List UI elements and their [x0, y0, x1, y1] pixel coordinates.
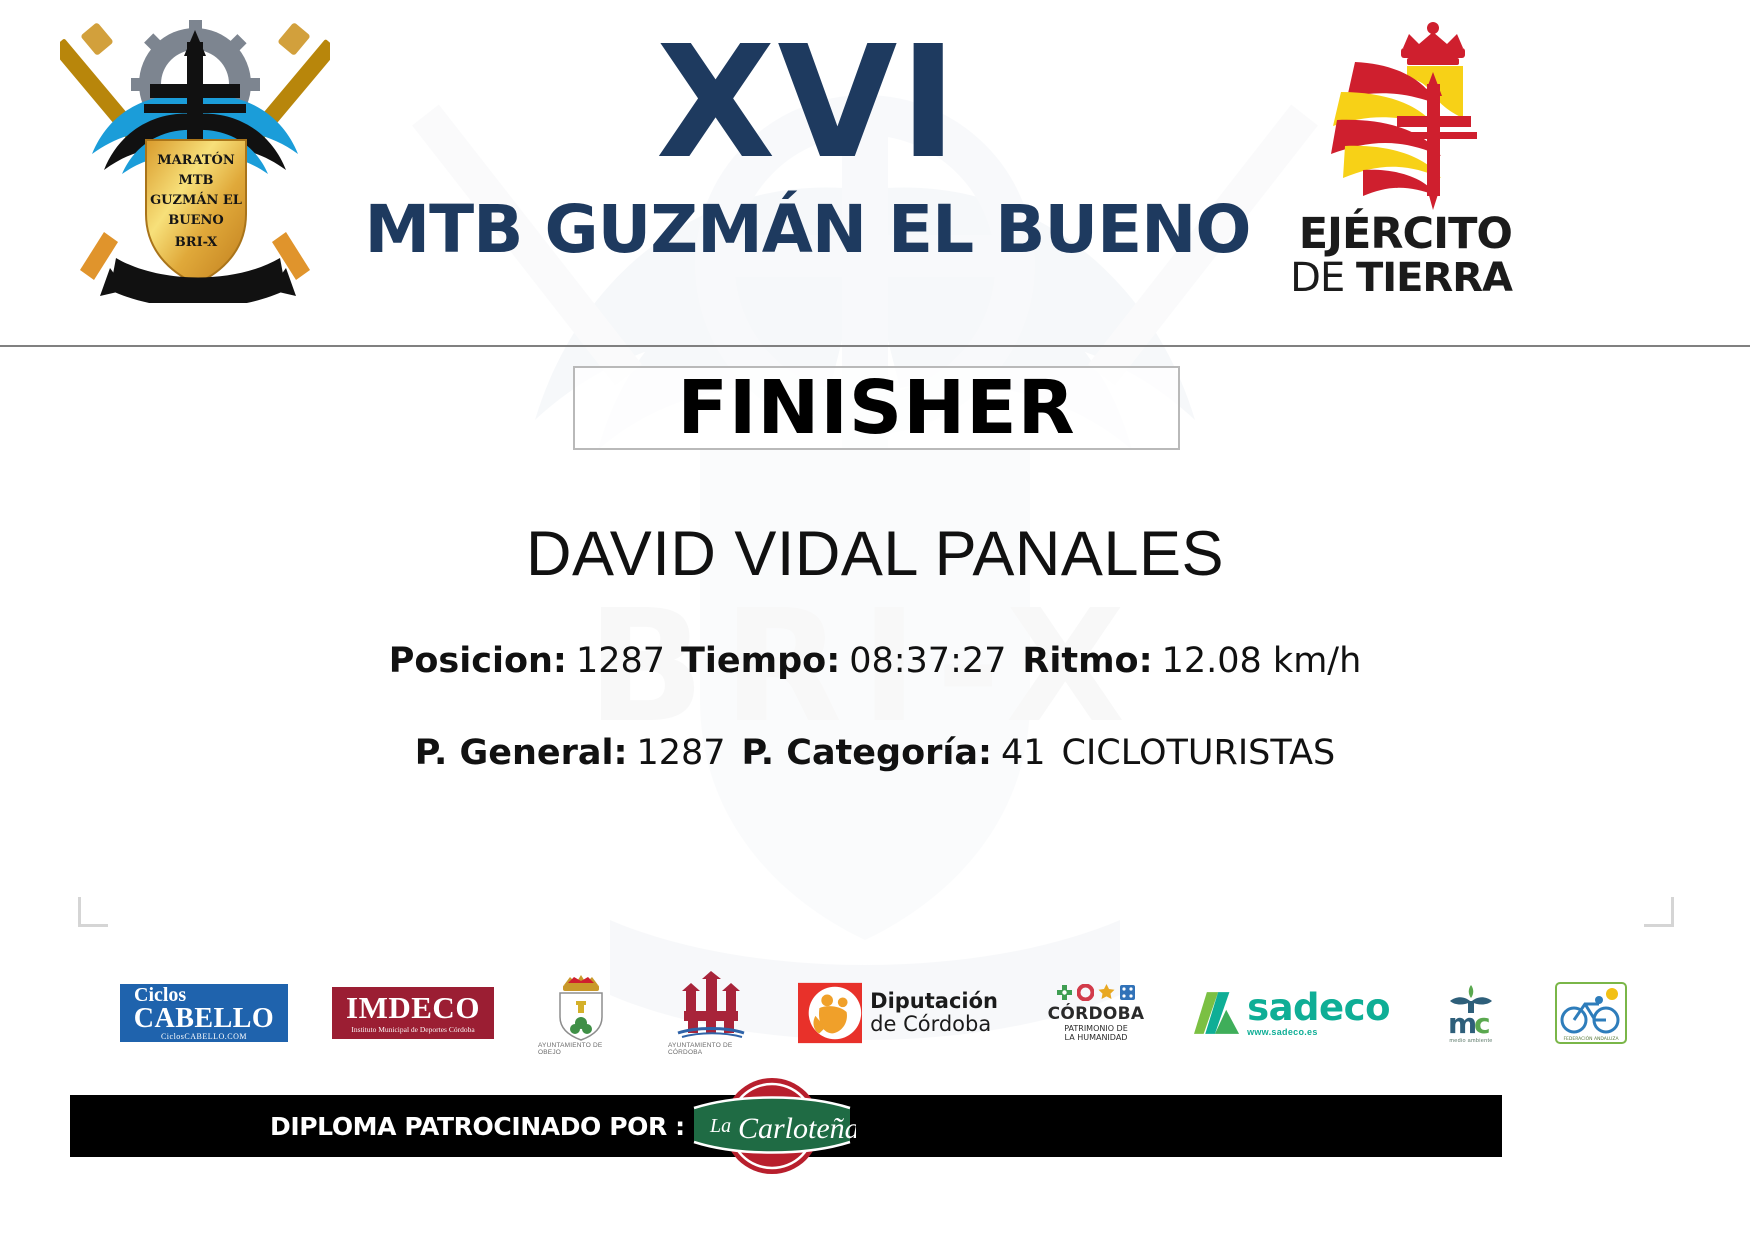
- event-name: MTB GUZMÁN EL BUENO: [355, 191, 1260, 268]
- stat-line-primary: Posicion:1287Tiempo:08:37:27Ritmo:12.08 …: [0, 641, 1750, 681]
- posicion-label: Posicion:: [389, 641, 567, 681]
- svg-text:MTB: MTB: [178, 173, 213, 188]
- svg-text:c: c: [1474, 1007, 1491, 1037]
- cordoba-city-crest-icon: [672, 971, 750, 1041]
- sponsor-imdeco: IMDECO Instituto Municipal de Deportes C…: [332, 987, 494, 1039]
- cabello-line-1: Ciclos: [134, 985, 186, 1005]
- tiempo-value: 08:37:27: [849, 641, 1006, 681]
- patrimonio-square-icon: [1119, 984, 1136, 1001]
- patrimonio-line-3: LA HUMANIDAD: [1065, 1033, 1128, 1042]
- sponsor-row: Ciclos CABELLO CiclosCABELLO.COM IMDECO …: [120, 968, 1630, 1058]
- header: MARATÓN MTB GUZMÁN EL BUENO BRI-X XVI MT…: [0, 0, 1750, 347]
- mc-mark-icon: m c: [1440, 983, 1502, 1037]
- svg-text:BUENO: BUENO: [168, 213, 223, 228]
- mc-line-2: medio ambiente: [1449, 1038, 1492, 1044]
- cordoba-city-caption: AYUNTAMIENTO DE CÓRDOBA: [668, 1042, 754, 1056]
- spanish-army-eagle-icon: [1285, 18, 1520, 213]
- sponsor-cordoba-patrimonio: CÓRDOBA PATRIMONIO DE LA HUMANIDAD: [1042, 977, 1150, 1049]
- svg-text:FEDERACIÓN ANDALUZA: FEDERACIÓN ANDALUZA: [1563, 1035, 1619, 1042]
- diputacion-wordmark: Diputación de Córdoba: [870, 990, 998, 1035]
- crop-mark-right: [1644, 897, 1674, 927]
- stat-line-secondary: P. General:1287P. Categoría:41CICLOTURIS…: [0, 733, 1750, 773]
- athlete-name: DAVID VIDAL PANALES: [0, 520, 1750, 589]
- p-general-label: P. General:: [415, 733, 628, 773]
- obejo-crest-icon: [548, 971, 614, 1041]
- patrimonio-star-icon: [1098, 984, 1115, 1001]
- ritmo-value: 12.08 km/h: [1162, 641, 1362, 681]
- club-crest-icon: MARATÓN MTB GUZMÁN EL BUENO BRI-X: [60, 18, 330, 303]
- crop-mark-left: [78, 897, 108, 927]
- patrimonio-ring-icon: [1077, 984, 1094, 1001]
- svg-text:BRI-X: BRI-X: [175, 235, 218, 250]
- sadeco-wordmark: sadeco www.sadeco.es: [1247, 989, 1390, 1037]
- sponsor-sadeco: sadeco www.sadeco.es: [1194, 982, 1390, 1044]
- carlotena-line-1: La: [709, 1115, 731, 1137]
- imdeco-line-2: Instituto Municipal de Deportes Córdoba: [351, 1025, 474, 1034]
- finisher-label: FINISHER: [677, 371, 1075, 445]
- p-categoria-value: 41: [1001, 733, 1046, 773]
- svg-text:m: m: [1448, 1007, 1477, 1037]
- finisher-badge: FINISHER: [573, 366, 1180, 450]
- ritmo-label: Ritmo:: [1022, 641, 1152, 681]
- patrimonio-icon-set: [1056, 984, 1136, 1001]
- sponsor-federacion-andaluza: FEDERACIÓN ANDALUZA: [1552, 980, 1630, 1046]
- sadeco-mark-icon: [1194, 987, 1239, 1039]
- sponsor-ayuntamiento-obejo: AYUNTAMIENTO DE OBEJO: [538, 970, 624, 1056]
- svg-text:MARATÓN: MARATÓN: [157, 151, 235, 168]
- tiempo-label: Tiempo:: [681, 641, 840, 681]
- sadeco-line-1: sadeco: [1247, 989, 1390, 1026]
- diputacion-line-2: de Córdoba: [870, 1013, 998, 1036]
- federacion-ciclismo-icon: FEDERACIÓN ANDALUZA: [1555, 982, 1627, 1044]
- categoria-name: CICLOTURISTAS: [1062, 733, 1336, 773]
- edition-number: XVI: [355, 22, 1260, 185]
- posicion-value: 1287: [576, 641, 665, 681]
- army-wordmark: EJÉRCITO DE TIERRA: [1285, 213, 1520, 298]
- sponsor-ayuntamiento-cordoba: AYUNTAMIENTO DE CÓRDOBA: [668, 970, 754, 1056]
- carlotena-line-2: Carloteña: [738, 1112, 856, 1145]
- event-wordmark: XVI MTB GUZMÁN EL BUENO: [355, 10, 1260, 310]
- cabello-line-3: CiclosCABELLO.COM: [161, 1033, 247, 1041]
- diputacion-line-1: Diputación: [870, 990, 998, 1013]
- sadeco-line-2: www.sadeco.es: [1247, 1028, 1390, 1037]
- ejercito-de-tierra-logo: EJÉRCITO DE TIERRA: [1285, 18, 1520, 308]
- patrimonio-cross-icon: [1056, 984, 1073, 1001]
- army-line-1: EJÉRCITO: [1285, 213, 1512, 256]
- diploma-page: BRI-X: [0, 0, 1750, 1239]
- cabello-line-2: CABELLO: [134, 1005, 274, 1033]
- p-categoria-label: P. Categoría:: [742, 733, 992, 773]
- imdeco-line-1: IMDECO: [346, 992, 480, 1023]
- patrimonio-line-2: PATRIMONIO DE: [1064, 1024, 1128, 1033]
- p-general-value: 1287: [636, 733, 725, 773]
- sponsor-diputacion-cordoba: Diputación de Córdoba: [798, 981, 998, 1045]
- sponsor-mc: m c medio ambiente: [1434, 977, 1508, 1049]
- sponsor-ciclos-cabello: Ciclos CABELLO CiclosCABELLO.COM: [120, 984, 288, 1042]
- sponsored-by-label: DIPLOMA PATROCINADO POR :: [270, 1112, 685, 1141]
- la-carlotena-logo: La Carloteña: [688, 1076, 856, 1176]
- patrimonio-line-1: CÓRDOBA: [1048, 1004, 1145, 1024]
- army-line-2: DE TIERRA: [1285, 258, 1512, 298]
- diputacion-mark-icon: [798, 982, 862, 1044]
- result-body: DAVID VIDAL PANALES Posicion:1287Tiempo:…: [0, 520, 1750, 773]
- header-divider: [0, 345, 1750, 347]
- obejo-caption: AYUNTAMIENTO DE OBEJO: [538, 1042, 624, 1056]
- svg-text:GUZMÁN EL: GUZMÁN EL: [150, 192, 242, 208]
